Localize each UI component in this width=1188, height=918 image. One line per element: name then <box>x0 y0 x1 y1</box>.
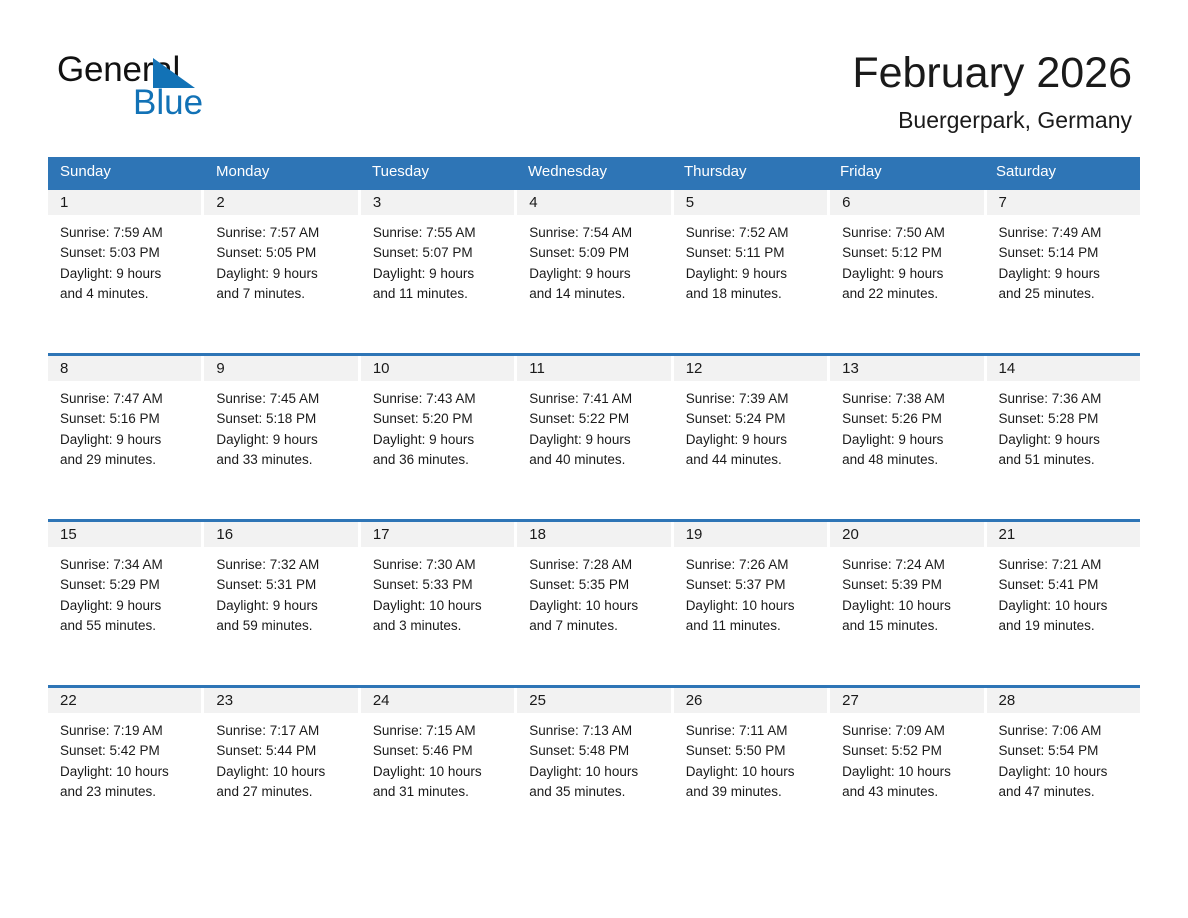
day-cell[interactable]: 5 Sunrise: 7:52 AM Sunset: 5:11 PM Dayli… <box>674 190 830 353</box>
daylight-text-line1: Daylight: 10 hours <box>686 762 817 782</box>
day-number-band: 20 <box>830 522 983 547</box>
daylight-text-line2: and 35 minutes. <box>529 782 660 802</box>
sunrise-text: Sunrise: 7:52 AM <box>686 223 817 243</box>
sunrise-text: Sunrise: 7:30 AM <box>373 555 504 575</box>
day-number-band: 8 <box>48 356 201 381</box>
sunrise-text: Sunrise: 7:50 AM <box>842 223 973 243</box>
daylight-text-line2: and 23 minutes. <box>60 782 191 802</box>
day-cell[interactable]: 14 Sunrise: 7:36 AM Sunset: 5:28 PM Dayl… <box>987 356 1140 519</box>
day-number: 26 <box>674 688 827 713</box>
day-number: 19 <box>674 522 827 547</box>
sunrise-text: Sunrise: 7:09 AM <box>842 721 973 741</box>
day-number: 8 <box>48 356 201 381</box>
daylight-text-line1: Daylight: 10 hours <box>999 762 1130 782</box>
sunset-text: Sunset: 5:46 PM <box>373 741 504 761</box>
daylight-text-line1: Daylight: 9 hours <box>686 430 817 450</box>
weekday-thursday: Thursday <box>672 157 828 187</box>
sunrise-text: Sunrise: 7:36 AM <box>999 389 1130 409</box>
day-number-band: 18 <box>517 522 670 547</box>
daylight-text-line2: and 18 minutes. <box>686 284 817 304</box>
day-info: Sunrise: 7:39 AM Sunset: 5:24 PM Dayligh… <box>674 381 827 471</box>
daylight-text-line1: Daylight: 10 hours <box>842 596 973 616</box>
day-info: Sunrise: 7:11 AM Sunset: 5:50 PM Dayligh… <box>674 713 827 803</box>
sunset-text: Sunset: 5:52 PM <box>842 741 973 761</box>
daylight-text-line2: and 40 minutes. <box>529 450 660 470</box>
sunset-text: Sunset: 5:31 PM <box>216 575 347 595</box>
daylight-text-line1: Daylight: 9 hours <box>60 430 191 450</box>
day-info: Sunrise: 7:21 AM Sunset: 5:41 PM Dayligh… <box>987 547 1140 637</box>
sunset-text: Sunset: 5:54 PM <box>999 741 1130 761</box>
day-number: 13 <box>830 356 983 381</box>
day-cell[interactable]: 6 Sunrise: 7:50 AM Sunset: 5:12 PM Dayli… <box>830 190 986 353</box>
sunset-text: Sunset: 5:41 PM <box>999 575 1130 595</box>
day-number-band: 17 <box>361 522 514 547</box>
day-number-band: 23 <box>204 688 357 713</box>
day-number: 27 <box>830 688 983 713</box>
day-info: Sunrise: 7:15 AM Sunset: 5:46 PM Dayligh… <box>361 713 514 803</box>
day-info: Sunrise: 7:41 AM Sunset: 5:22 PM Dayligh… <box>517 381 670 471</box>
daylight-text-line2: and 39 minutes. <box>686 782 817 802</box>
day-info: Sunrise: 7:50 AM Sunset: 5:12 PM Dayligh… <box>830 215 983 305</box>
day-number-band: 4 <box>517 190 670 215</box>
daylight-text-line1: Daylight: 9 hours <box>60 596 191 616</box>
daylight-text-line2: and 31 minutes. <box>373 782 504 802</box>
day-number-band: 7 <box>987 190 1140 215</box>
sunrise-text: Sunrise: 7:59 AM <box>60 223 191 243</box>
sunset-text: Sunset: 5:03 PM <box>60 243 191 263</box>
day-number: 9 <box>204 356 357 381</box>
sunrise-text: Sunrise: 7:26 AM <box>686 555 817 575</box>
sunrise-text: Sunrise: 7:49 AM <box>999 223 1130 243</box>
day-info: Sunrise: 7:26 AM Sunset: 5:37 PM Dayligh… <box>674 547 827 637</box>
daylight-text-line2: and 7 minutes. <box>216 284 347 304</box>
daylight-text-line2: and 22 minutes. <box>842 284 973 304</box>
day-cell[interactable]: 21 Sunrise: 7:21 AM Sunset: 5:41 PM Dayl… <box>987 522 1140 685</box>
day-info: Sunrise: 7:45 AM Sunset: 5:18 PM Dayligh… <box>204 381 357 471</box>
day-number: 3 <box>361 190 514 215</box>
day-number-band: 22 <box>48 688 201 713</box>
sunset-text: Sunset: 5:16 PM <box>60 409 191 429</box>
day-number: 17 <box>361 522 514 547</box>
sunrise-text: Sunrise: 7:54 AM <box>529 223 660 243</box>
brand-name-blue: Blue <box>133 85 203 121</box>
day-number-band: 19 <box>674 522 827 547</box>
sunset-text: Sunset: 5:20 PM <box>373 409 504 429</box>
day-number-band: 25 <box>517 688 670 713</box>
day-info: Sunrise: 7:36 AM Sunset: 5:28 PM Dayligh… <box>987 381 1140 471</box>
weekday-friday: Friday <box>828 157 984 187</box>
daylight-text-line1: Daylight: 10 hours <box>529 596 660 616</box>
daylight-text-line1: Daylight: 9 hours <box>842 430 973 450</box>
day-number-band: 6 <box>830 190 983 215</box>
sunrise-text: Sunrise: 7:06 AM <box>999 721 1130 741</box>
day-number: 2 <box>204 190 357 215</box>
sunset-text: Sunset: 5:12 PM <box>842 243 973 263</box>
day-number: 20 <box>830 522 983 547</box>
daylight-text-line1: Daylight: 9 hours <box>529 264 660 284</box>
daylight-text-line1: Daylight: 9 hours <box>842 264 973 284</box>
calendar-grid: Sunday Monday Tuesday Wednesday Thursday… <box>48 157 1140 851</box>
day-info: Sunrise: 7:28 AM Sunset: 5:35 PM Dayligh… <box>517 547 670 637</box>
daylight-text-line2: and 19 minutes. <box>999 616 1130 636</box>
daylight-text-line2: and 4 minutes. <box>60 284 191 304</box>
sunrise-text: Sunrise: 7:38 AM <box>842 389 973 409</box>
daylight-text-line2: and 51 minutes. <box>999 450 1130 470</box>
daylight-text-line1: Daylight: 10 hours <box>216 762 347 782</box>
day-number: 1 <box>48 190 201 215</box>
day-number: 18 <box>517 522 670 547</box>
day-cell[interactable]: 19 Sunrise: 7:26 AM Sunset: 5:37 PM Dayl… <box>674 522 830 685</box>
day-number: 6 <box>830 190 983 215</box>
daylight-text-line2: and 15 minutes. <box>842 616 973 636</box>
day-cell[interactable]: 18 Sunrise: 7:28 AM Sunset: 5:35 PM Dayl… <box>517 522 673 685</box>
calendar-page: General Blue February 2026 Buergerpark, … <box>0 0 1188 918</box>
daylight-text-line2: and 29 minutes. <box>60 450 191 470</box>
sunset-text: Sunset: 5:29 PM <box>60 575 191 595</box>
sunset-text: Sunset: 5:14 PM <box>999 243 1130 263</box>
sunrise-text: Sunrise: 7:45 AM <box>216 389 347 409</box>
daylight-text-line1: Daylight: 10 hours <box>529 762 660 782</box>
daylight-text-line1: Daylight: 10 hours <box>373 762 504 782</box>
day-number: 5 <box>674 190 827 215</box>
sunset-text: Sunset: 5:33 PM <box>373 575 504 595</box>
daylight-text-line1: Daylight: 10 hours <box>686 596 817 616</box>
page-title: February 2026 <box>852 48 1132 98</box>
daylight-text-line1: Daylight: 10 hours <box>999 596 1130 616</box>
day-cell[interactable]: 4 Sunrise: 7:54 AM Sunset: 5:09 PM Dayli… <box>517 190 673 353</box>
daylight-text-line1: Daylight: 10 hours <box>60 762 191 782</box>
day-cell[interactable]: 17 Sunrise: 7:30 AM Sunset: 5:33 PM Dayl… <box>361 522 517 685</box>
day-number: 23 <box>204 688 357 713</box>
day-info: Sunrise: 7:47 AM Sunset: 5:16 PM Dayligh… <box>48 381 201 471</box>
sunrise-text: Sunrise: 7:24 AM <box>842 555 973 575</box>
sunrise-text: Sunrise: 7:34 AM <box>60 555 191 575</box>
week-row: 1 Sunrise: 7:59 AM Sunset: 5:03 PM Dayli… <box>48 187 1140 353</box>
weekday-sunday: Sunday <box>48 157 204 187</box>
daylight-text-line2: and 47 minutes. <box>999 782 1130 802</box>
sunrise-text: Sunrise: 7:43 AM <box>373 389 504 409</box>
daylight-text-line2: and 48 minutes. <box>842 450 973 470</box>
day-info: Sunrise: 7:54 AM Sunset: 5:09 PM Dayligh… <box>517 215 670 305</box>
day-number-band: 9 <box>204 356 357 381</box>
daylight-text-line2: and 59 minutes. <box>216 616 347 636</box>
day-number-band: 24 <box>361 688 514 713</box>
day-cell[interactable]: 22 Sunrise: 7:19 AM Sunset: 5:42 PM Dayl… <box>48 688 204 851</box>
day-info: Sunrise: 7:43 AM Sunset: 5:20 PM Dayligh… <box>361 381 514 471</box>
day-cell[interactable]: 13 Sunrise: 7:38 AM Sunset: 5:26 PM Dayl… <box>830 356 986 519</box>
day-number-band: 10 <box>361 356 514 381</box>
day-number-band: 12 <box>674 356 827 381</box>
daylight-text-line2: and 7 minutes. <box>529 616 660 636</box>
day-cell[interactable]: 1 Sunrise: 7:59 AM Sunset: 5:03 PM Dayli… <box>48 190 204 353</box>
daylight-text-line1: Daylight: 9 hours <box>216 430 347 450</box>
sunrise-text: Sunrise: 7:17 AM <box>216 721 347 741</box>
sunrise-text: Sunrise: 7:39 AM <box>686 389 817 409</box>
sunrise-text: Sunrise: 7:55 AM <box>373 223 504 243</box>
daylight-text-line2: and 25 minutes. <box>999 284 1130 304</box>
brand-logo[interactable]: General Blue <box>57 52 317 132</box>
day-info: Sunrise: 7:30 AM Sunset: 5:33 PM Dayligh… <box>361 547 514 637</box>
weekday-tuesday: Tuesday <box>360 157 516 187</box>
day-number-band: 2 <box>204 190 357 215</box>
daylight-text-line2: and 27 minutes. <box>216 782 347 802</box>
sunset-text: Sunset: 5:44 PM <box>216 741 347 761</box>
sunset-text: Sunset: 5:11 PM <box>686 243 817 263</box>
sunrise-text: Sunrise: 7:19 AM <box>60 721 191 741</box>
sunrise-text: Sunrise: 7:57 AM <box>216 223 347 243</box>
sunset-text: Sunset: 5:05 PM <box>216 243 347 263</box>
day-cell[interactable]: 27 Sunrise: 7:09 AM Sunset: 5:52 PM Dayl… <box>830 688 986 851</box>
sunset-text: Sunset: 5:42 PM <box>60 741 191 761</box>
sunset-text: Sunset: 5:35 PM <box>529 575 660 595</box>
daylight-text-line2: and 36 minutes. <box>373 450 504 470</box>
daylight-text-line1: Daylight: 10 hours <box>842 762 973 782</box>
day-number: 10 <box>361 356 514 381</box>
week-row: 8 Sunrise: 7:47 AM Sunset: 5:16 PM Dayli… <box>48 353 1140 519</box>
day-number-band: 26 <box>674 688 827 713</box>
daylight-text-line2: and 3 minutes. <box>373 616 504 636</box>
day-info: Sunrise: 7:09 AM Sunset: 5:52 PM Dayligh… <box>830 713 983 803</box>
daylight-text-line1: Daylight: 9 hours <box>60 264 191 284</box>
day-cell[interactable]: 12 Sunrise: 7:39 AM Sunset: 5:24 PM Dayl… <box>674 356 830 519</box>
daylight-text-line2: and 33 minutes. <box>216 450 347 470</box>
daylight-text-line1: Daylight: 9 hours <box>686 264 817 284</box>
day-number-band: 1 <box>48 190 201 215</box>
sunset-text: Sunset: 5:09 PM <box>529 243 660 263</box>
day-number-band: 27 <box>830 688 983 713</box>
day-number: 11 <box>517 356 670 381</box>
sunrise-text: Sunrise: 7:32 AM <box>216 555 347 575</box>
day-number: 16 <box>204 522 357 547</box>
day-number-band: 11 <box>517 356 670 381</box>
daylight-text-line2: and 11 minutes. <box>686 616 817 636</box>
day-cell[interactable]: 8 Sunrise: 7:47 AM Sunset: 5:16 PM Dayli… <box>48 356 204 519</box>
day-cell[interactable]: 26 Sunrise: 7:11 AM Sunset: 5:50 PM Dayl… <box>674 688 830 851</box>
day-number: 28 <box>987 688 1140 713</box>
day-cell[interactable]: 7 Sunrise: 7:49 AM Sunset: 5:14 PM Dayli… <box>987 190 1140 353</box>
daylight-text-line1: Daylight: 9 hours <box>216 264 347 284</box>
day-cell[interactable]: 10 Sunrise: 7:43 AM Sunset: 5:20 PM Dayl… <box>361 356 517 519</box>
sunrise-text: Sunrise: 7:47 AM <box>60 389 191 409</box>
day-number-band: 15 <box>48 522 201 547</box>
daylight-text-line2: and 44 minutes. <box>686 450 817 470</box>
sunset-text: Sunset: 5:07 PM <box>373 243 504 263</box>
day-number-band: 16 <box>204 522 357 547</box>
sunrise-text: Sunrise: 7:21 AM <box>999 555 1130 575</box>
day-cell[interactable]: 20 Sunrise: 7:24 AM Sunset: 5:39 PM Dayl… <box>830 522 986 685</box>
day-number-band: 13 <box>830 356 983 381</box>
day-number-band: 21 <box>987 522 1140 547</box>
sunset-text: Sunset: 5:24 PM <box>686 409 817 429</box>
daylight-text-line1: Daylight: 10 hours <box>373 596 504 616</box>
week-row: 22 Sunrise: 7:19 AM Sunset: 5:42 PM Dayl… <box>48 685 1140 851</box>
sunset-text: Sunset: 5:48 PM <box>529 741 660 761</box>
daylight-text-line1: Daylight: 9 hours <box>373 264 504 284</box>
day-info: Sunrise: 7:13 AM Sunset: 5:48 PM Dayligh… <box>517 713 670 803</box>
daylight-text-line1: Daylight: 9 hours <box>529 430 660 450</box>
sunset-text: Sunset: 5:50 PM <box>686 741 817 761</box>
weekday-header-row: Sunday Monday Tuesday Wednesday Thursday… <box>48 157 1140 187</box>
weekday-saturday: Saturday <box>984 157 1140 187</box>
day-info: Sunrise: 7:52 AM Sunset: 5:11 PM Dayligh… <box>674 215 827 305</box>
day-cell[interactable]: 24 Sunrise: 7:15 AM Sunset: 5:46 PM Dayl… <box>361 688 517 851</box>
day-number: 21 <box>987 522 1140 547</box>
location-subtitle: Buergerpark, Germany <box>852 106 1132 134</box>
title-block: February 2026 Buergerpark, Germany <box>852 48 1132 134</box>
daylight-text-line2: and 11 minutes. <box>373 284 504 304</box>
day-cell[interactable]: 25 Sunrise: 7:13 AM Sunset: 5:48 PM Dayl… <box>517 688 673 851</box>
day-number-band: 3 <box>361 190 514 215</box>
sunrise-text: Sunrise: 7:15 AM <box>373 721 504 741</box>
sunset-text: Sunset: 5:28 PM <box>999 409 1130 429</box>
day-number: 7 <box>987 190 1140 215</box>
day-info: Sunrise: 7:59 AM Sunset: 5:03 PM Dayligh… <box>48 215 201 305</box>
day-number: 15 <box>48 522 201 547</box>
day-number-band: 28 <box>987 688 1140 713</box>
day-cell[interactable]: 16 Sunrise: 7:32 AM Sunset: 5:31 PM Dayl… <box>204 522 360 685</box>
daylight-text-line2: and 43 minutes. <box>842 782 973 802</box>
week-row: 15 Sunrise: 7:34 AM Sunset: 5:29 PM Dayl… <box>48 519 1140 685</box>
day-number: 24 <box>361 688 514 713</box>
daylight-text-line1: Daylight: 9 hours <box>999 264 1130 284</box>
day-cell[interactable]: 28 Sunrise: 7:06 AM Sunset: 5:54 PM Dayl… <box>987 688 1140 851</box>
sunset-text: Sunset: 5:18 PM <box>216 409 347 429</box>
day-cell[interactable]: 3 Sunrise: 7:55 AM Sunset: 5:07 PM Dayli… <box>361 190 517 353</box>
sunset-text: Sunset: 5:37 PM <box>686 575 817 595</box>
day-number: 22 <box>48 688 201 713</box>
day-cell[interactable]: 11 Sunrise: 7:41 AM Sunset: 5:22 PM Dayl… <box>517 356 673 519</box>
page-header: General Blue February 2026 Buergerpark, … <box>0 0 1188 150</box>
day-cell[interactable]: 2 Sunrise: 7:57 AM Sunset: 5:05 PM Dayli… <box>204 190 360 353</box>
day-number: 12 <box>674 356 827 381</box>
day-info: Sunrise: 7:34 AM Sunset: 5:29 PM Dayligh… <box>48 547 201 637</box>
sunrise-text: Sunrise: 7:13 AM <box>529 721 660 741</box>
daylight-text-line1: Daylight: 9 hours <box>216 596 347 616</box>
sunset-text: Sunset: 5:26 PM <box>842 409 973 429</box>
day-info: Sunrise: 7:17 AM Sunset: 5:44 PM Dayligh… <box>204 713 357 803</box>
day-info: Sunrise: 7:06 AM Sunset: 5:54 PM Dayligh… <box>987 713 1140 803</box>
day-number-band: 14 <box>987 356 1140 381</box>
day-number: 25 <box>517 688 670 713</box>
weekday-monday: Monday <box>204 157 360 187</box>
sunrise-text: Sunrise: 7:11 AM <box>686 721 817 741</box>
day-info: Sunrise: 7:57 AM Sunset: 5:05 PM Dayligh… <box>204 215 357 305</box>
day-number-band: 5 <box>674 190 827 215</box>
daylight-text-line1: Daylight: 9 hours <box>373 430 504 450</box>
daylight-text-line1: Daylight: 9 hours <box>999 430 1130 450</box>
day-cell[interactable]: 9 Sunrise: 7:45 AM Sunset: 5:18 PM Dayli… <box>204 356 360 519</box>
sunrise-text: Sunrise: 7:28 AM <box>529 555 660 575</box>
day-number: 4 <box>517 190 670 215</box>
sunset-text: Sunset: 5:22 PM <box>529 409 660 429</box>
day-number: 14 <box>987 356 1140 381</box>
weekday-wednesday: Wednesday <box>516 157 672 187</box>
daylight-text-line2: and 55 minutes. <box>60 616 191 636</box>
sunrise-text: Sunrise: 7:41 AM <box>529 389 660 409</box>
day-info: Sunrise: 7:19 AM Sunset: 5:42 PM Dayligh… <box>48 713 201 803</box>
day-cell[interactable]: 15 Sunrise: 7:34 AM Sunset: 5:29 PM Dayl… <box>48 522 204 685</box>
day-info: Sunrise: 7:55 AM Sunset: 5:07 PM Dayligh… <box>361 215 514 305</box>
daylight-text-line2: and 14 minutes. <box>529 284 660 304</box>
sunset-text: Sunset: 5:39 PM <box>842 575 973 595</box>
day-info: Sunrise: 7:32 AM Sunset: 5:31 PM Dayligh… <box>204 547 357 637</box>
day-info: Sunrise: 7:24 AM Sunset: 5:39 PM Dayligh… <box>830 547 983 637</box>
day-info: Sunrise: 7:38 AM Sunset: 5:26 PM Dayligh… <box>830 381 983 471</box>
day-cell[interactable]: 23 Sunrise: 7:17 AM Sunset: 5:44 PM Dayl… <box>204 688 360 851</box>
day-info: Sunrise: 7:49 AM Sunset: 5:14 PM Dayligh… <box>987 215 1140 305</box>
